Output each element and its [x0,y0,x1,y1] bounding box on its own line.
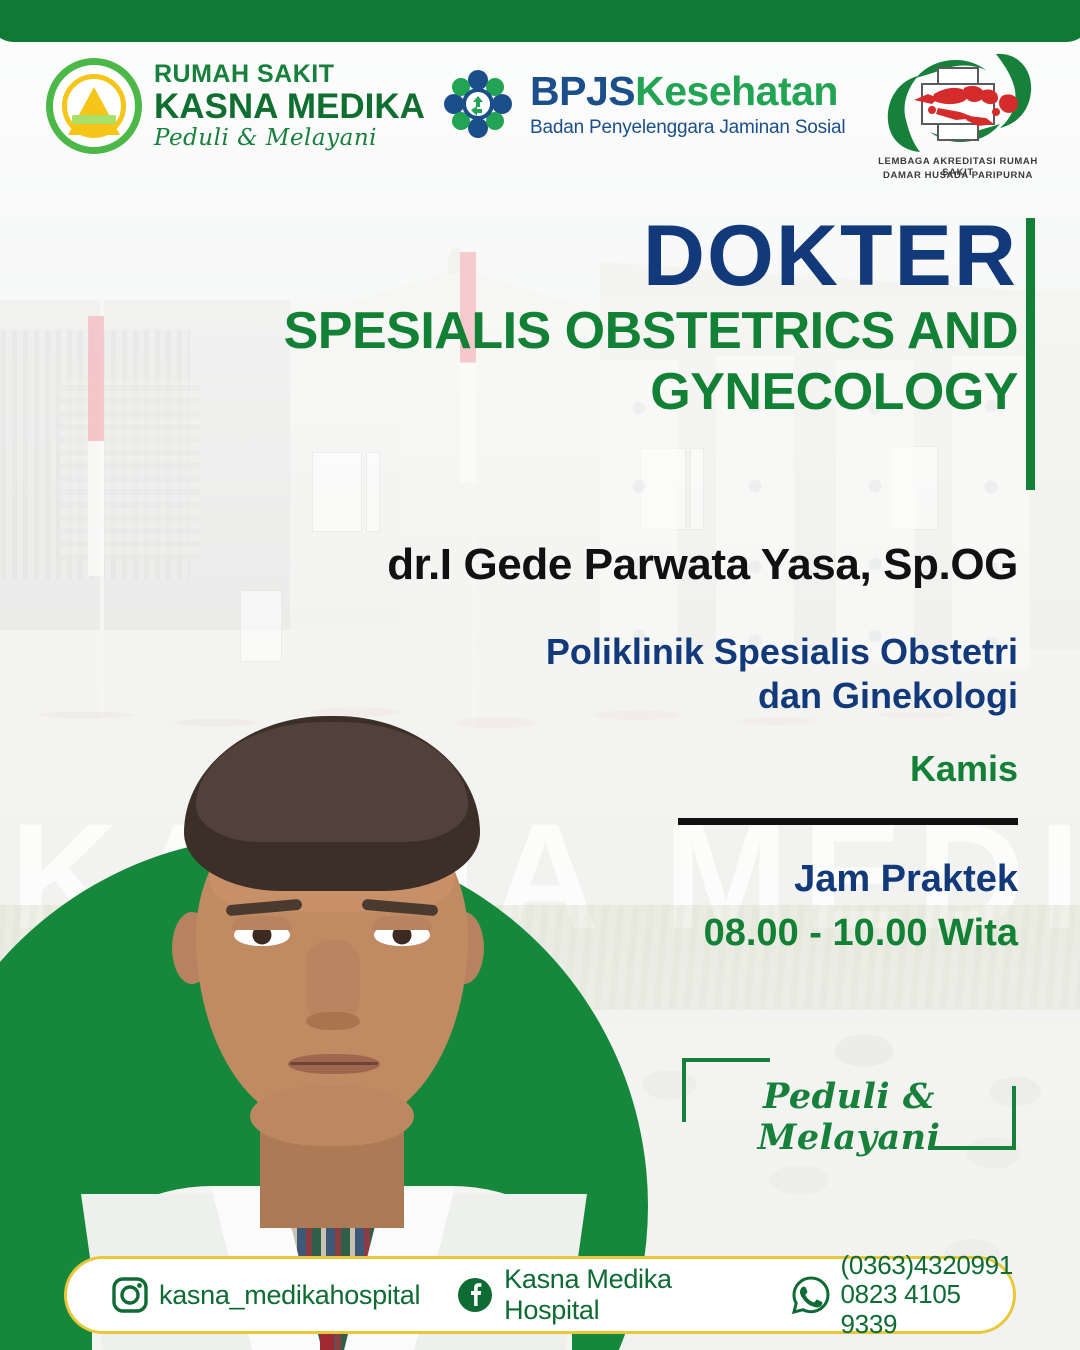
instagram-handle[interactable]: kasna_medikahospital [159,1280,420,1311]
kasna-a-shape-icon [68,87,120,135]
hands-cross-indonesia-map-icon [868,46,1048,164]
bpjs-title: BPJSKesehatan [530,71,845,113]
whatsapp-contact[interactable]: (0363)4320991 0823 4105 9339 [791,1251,1013,1340]
page-title: DOKTER [198,214,1018,298]
logo-row: RUMAH SAKIT KASNA MEDIKA Peduli & Melaya… [0,48,1080,198]
kasna-line3: Peduli & Melayani [154,127,425,150]
headline-block: DOKTER SPESIALIS OBSTETRICS AND GYNECOLO… [198,214,1018,420]
doctor-portrait [92,716,572,1350]
kasna-line1: RUMAH SAKIT [154,62,425,87]
clinic-name: Poliklinik Spesialis Obstetri dan Gineko… [318,630,1018,718]
section-divider [678,818,1018,825]
bpjs-wordmark: BPJSKesehatan Badan Penyelenggara Jamina… [530,71,845,137]
facebook-icon[interactable] [456,1276,494,1314]
doctor-nostrils [306,1012,360,1030]
tagline-box: Peduli & Melayani [682,1058,1016,1150]
tagline-text: Peduli & Melayani [682,1076,1016,1158]
headline-subtitle-line1: SPESIALIS OBSTETRICS AND [198,304,1018,359]
instagram-contact[interactable]: kasna_medikahospital [111,1276,420,1314]
kasna-a-bar-icon [72,115,116,124]
lars-line2: DAMAR HUSADA PARIPURNA [868,170,1048,181]
doctor-chin [250,1086,414,1146]
clinic-name-line2: dan Ginekologi [318,674,1018,718]
bpjs-title-part2: Kesehatan [635,68,838,114]
kasna-medika-logo: RUMAH SAKIT KASNA MEDIKA Peduli & Melaya… [46,58,425,154]
doctor-mouth-line [290,1062,378,1065]
facebook-page[interactable]: Kasna Medika Hospital [504,1264,756,1326]
whatsapp-icon[interactable] [791,1275,831,1315]
doctor-eyelid-left [232,916,292,930]
poster-canvas: KASNA MEDIKA RUMAH SAKIT KASNA MEDIKA Pe… [0,0,1080,1350]
instagram-icon[interactable] [111,1276,149,1314]
practice-day: Kamis [318,748,1018,790]
bpjs-title-part1: BPJS [530,68,635,114]
practice-hours-label: Jam Praktek [318,858,1018,901]
top-green-bar [0,0,1080,42]
facebook-contact[interactable]: Kasna Medika Hospital [456,1264,756,1326]
lars-accreditation-logo: LEMBAGA AKREDITASI RUMAH SAKIT DAMAR HUS… [868,46,1048,206]
practice-hours-value: 08.00 - 10.00 Wita [318,912,1018,955]
bpjs-kesehatan-logo: BPJSKesehatan Badan Penyelenggara Jamina… [440,66,845,142]
doctor-name: dr.I Gede Parwata Yasa, Sp.OG [158,540,1018,590]
hospital-a-mark-icon [46,58,142,154]
contact-footer-bar: kasna_medikahospital Kasna Medika Hospit… [64,1256,1016,1334]
kasna-medika-wordmark: RUMAH SAKIT KASNA MEDIKA Peduli & Melaya… [154,62,425,150]
bpjs-subtitle: Badan Penyelenggara Jaminan Sosial [530,118,845,137]
bpjs-people-circle-icon [440,66,516,142]
clinic-name-line1: Poliklinik Spesialis Obstetri [318,630,1018,674]
whatsapp-phone-1[interactable]: (0363)4320991 [841,1251,1013,1281]
whatsapp-phone-numbers[interactable]: (0363)4320991 0823 4105 9339 [841,1251,1013,1340]
headline-subtitle-line2: GYNECOLOGY [198,365,1018,420]
kasna-line2: KASNA MEDIKA [154,89,425,124]
whatsapp-phone-2[interactable]: 0823 4105 9339 [841,1280,1013,1339]
headline-vertical-rule [1026,218,1035,490]
